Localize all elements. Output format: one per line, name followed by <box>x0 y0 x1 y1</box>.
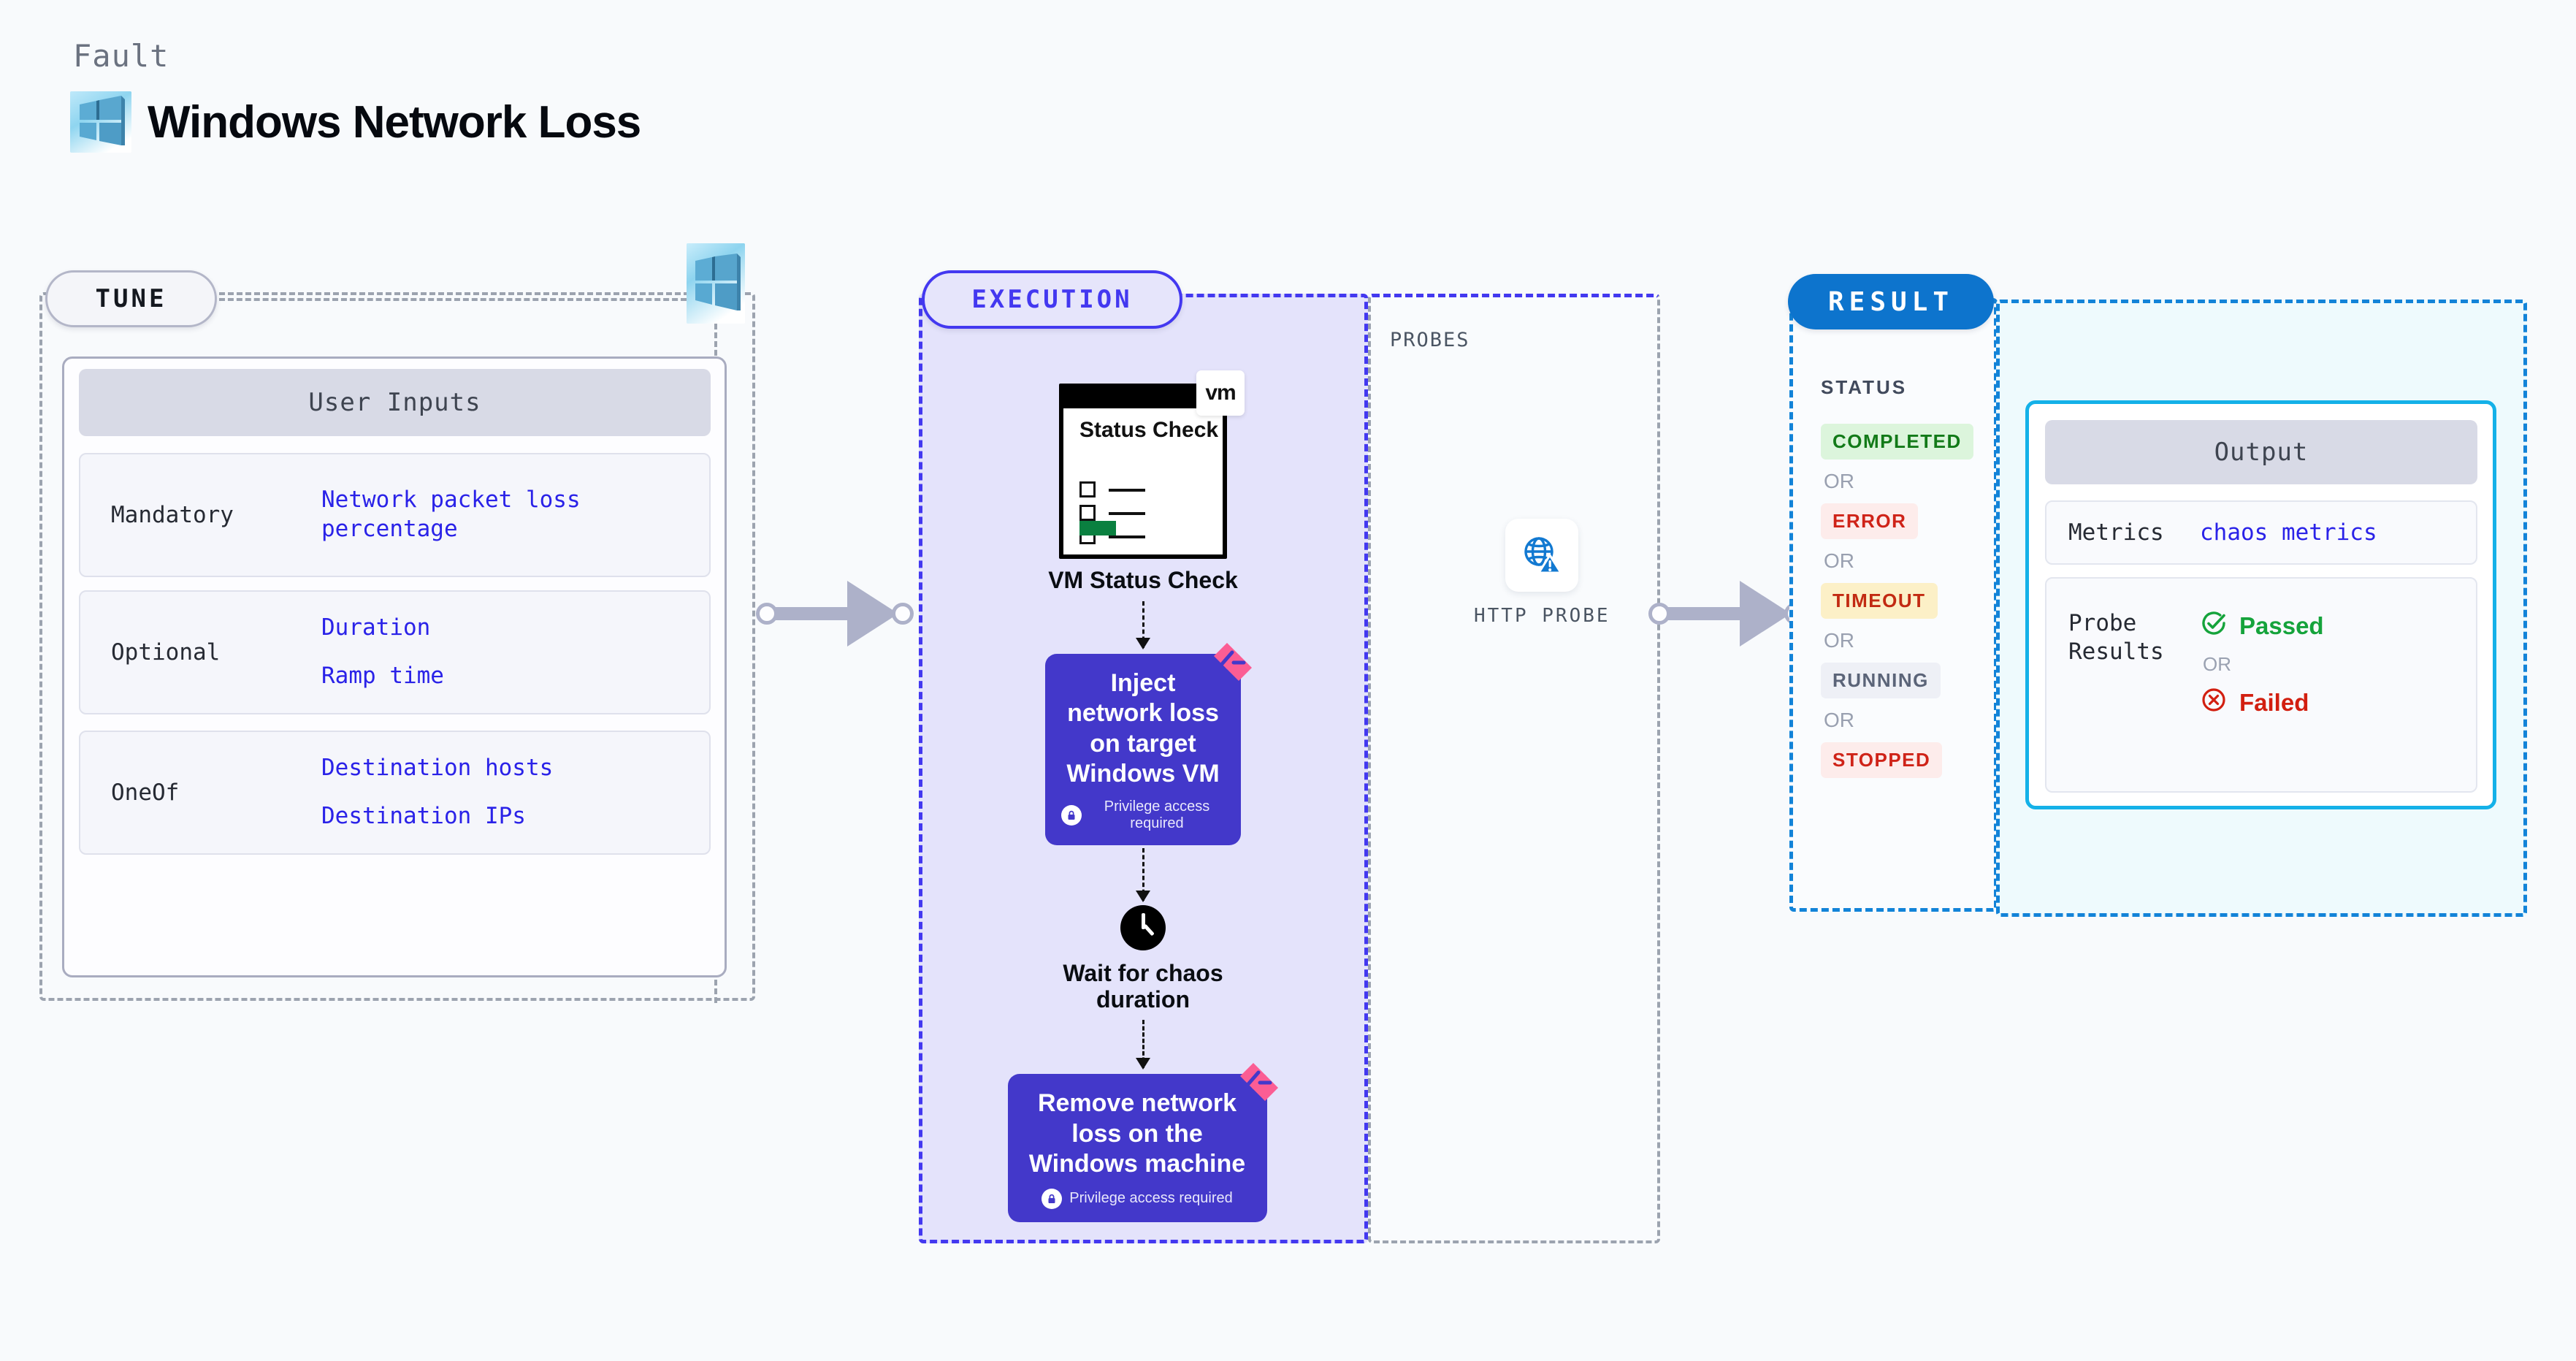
tune-row-label: Optional <box>80 639 321 666</box>
vm-badge-icon: vm <box>1196 370 1245 416</box>
status-badge: TIMEOUT <box>1821 583 1938 619</box>
execution-node-column: Status Check vm VM Status Check Inject n… <box>1044 384 1242 1222</box>
action-remove-network-loss[interactable]: Remove network loss on the Windows machi… <box>1008 1074 1267 1221</box>
privilege-note: Privilege access required <box>1061 798 1225 832</box>
litmus-chaos-ribbon-icon <box>1238 1061 1280 1103</box>
flow-arrow-down <box>1142 1020 1144 1068</box>
check-circle-icon <box>2200 609 2228 643</box>
lock-icon <box>1042 1189 1062 1209</box>
tune-windows-logo-icon <box>687 243 745 324</box>
page-title: Windows Network Loss <box>148 96 641 148</box>
x-circle-icon <box>2200 686 2228 720</box>
status-badge: STOPPED <box>1821 742 1942 778</box>
result-pill: RESULT <box>1788 274 1994 329</box>
status-badge-stack: COMPLETED OR ERROR OR TIMEOUT OR RUNNING… <box>1821 424 1973 778</box>
tune-row-values: Duration Ramp time <box>321 614 444 690</box>
probe-result-options: Passed OR Failed <box>2200 609 2324 720</box>
output-header: Output <box>2045 420 2477 484</box>
tune-row-label: OneOf <box>80 779 321 806</box>
status-badge: RUNNING <box>1821 663 1941 698</box>
or-separator: OR <box>1824 549 1854 573</box>
tune-row-optional[interactable]: Optional Duration Ramp time <box>79 590 711 714</box>
tune-row-oneof[interactable]: OneOf Destination hosts Destination IPs <box>79 731 711 855</box>
probes-section-label: PROBES <box>1390 329 1470 351</box>
action-inject-network-loss[interactable]: Inject network loss on target Windows VM… <box>1045 654 1241 845</box>
tune-value[interactable]: Destination hosts <box>321 754 553 783</box>
privilege-note-label: Privilege access required <box>1089 798 1225 832</box>
status-check-card-title: Status Check <box>1079 419 1218 442</box>
execution-pill-label: EXECUTION <box>971 285 1132 314</box>
or-separator: OR <box>1824 629 1854 652</box>
vm-status-check-label: VM Status Check <box>1048 568 1238 594</box>
or-separator: OR <box>1824 470 1854 493</box>
page-kicker: Fault <box>73 38 169 74</box>
probe-result-passed-label: Passed <box>2239 612 2324 640</box>
tune-pill-label: TUNE <box>96 284 167 313</box>
windows-logo-icon <box>70 91 131 153</box>
output-row-label: Metrics <box>2046 519 2200 547</box>
probe-result-failed-label: Failed <box>2239 689 2309 717</box>
flow-arrow-down <box>1142 601 1144 648</box>
execution-pill: EXECUTION <box>922 270 1182 329</box>
probes-section-frame <box>1368 294 1660 1243</box>
privilege-note-label: Privilege access required <box>1069 1190 1232 1207</box>
clock-icon <box>1120 905 1166 950</box>
tune-value[interactable]: Duration <box>321 614 444 643</box>
output-row-metrics[interactable]: Metrics chaos metrics <box>2045 500 2477 565</box>
output-header-label: Output <box>2214 438 2309 467</box>
globe-warning-icon <box>1505 519 1578 592</box>
privilege-note: Privilege access required <box>1024 1189 1251 1209</box>
action-title: Remove network loss on the Windows machi… <box>1024 1089 1251 1179</box>
tune-value[interactable]: Destination IPs <box>321 802 553 831</box>
or-separator: OR <box>2203 653 2324 676</box>
wait-node-label: Wait for chaos duration <box>1044 961 1242 1013</box>
or-separator: OR <box>1824 709 1854 732</box>
probe-node-http[interactable]: HTTP PROBE <box>1474 519 1610 627</box>
status-badge: ERROR <box>1821 503 1918 539</box>
output-row-label: Probe Results <box>2046 609 2200 666</box>
user-inputs-header: User Inputs <box>79 369 711 436</box>
page-title-row: Windows Network Loss <box>70 91 641 153</box>
status-label: STATUS <box>1821 376 1907 399</box>
tune-row-mandatory[interactable]: Mandatory Network packet loss percentage <box>79 453 711 577</box>
output-row-probe-results[interactable]: Probe Results Passed OR <box>2045 577 2477 793</box>
lock-icon <box>1061 805 1082 826</box>
tune-pill: TUNE <box>45 270 217 327</box>
status-badge: COMPLETED <box>1821 424 1973 460</box>
diagram-canvas: Fault Wind <box>0 0 2576 1361</box>
result-pill-label: RESULT <box>1828 287 1954 317</box>
user-inputs-header-label: User Inputs <box>308 388 481 417</box>
probe-result-passed: Passed <box>2200 609 2324 643</box>
litmus-chaos-ribbon-icon <box>1212 641 1254 683</box>
vm-status-check-node[interactable]: Status Check vm <box>1059 384 1227 559</box>
probe-result-failed: Failed <box>2200 686 2324 720</box>
tune-row-values: Destination hosts Destination IPs <box>321 754 553 831</box>
action-title: Inject network loss on target Windows VM <box>1061 668 1225 790</box>
flow-arrow-down <box>1142 848 1144 901</box>
tune-row-label: Mandatory <box>80 502 321 528</box>
tune-value[interactable]: Network packet loss percentage <box>321 486 628 544</box>
tune-row-values: Network packet loss percentage <box>321 486 628 544</box>
tune-top-dashed-line <box>219 298 687 301</box>
probe-node-label: HTTP PROBE <box>1474 605 1610 627</box>
output-metrics-value[interactable]: chaos metrics <box>2200 519 2377 546</box>
tune-value[interactable]: Ramp time <box>321 662 444 691</box>
